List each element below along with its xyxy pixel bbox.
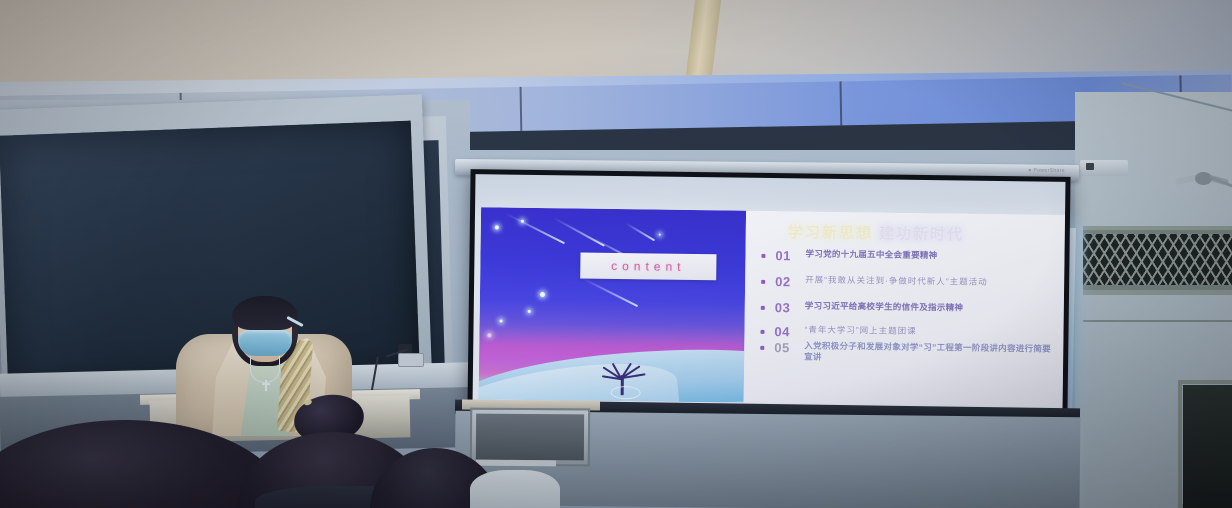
face-mask-icon (238, 330, 292, 356)
bullet-icon (761, 254, 765, 258)
bullet-icon (760, 346, 764, 350)
housing-brand-label: ● PowerShare (1028, 168, 1065, 174)
bullet-icon (760, 330, 764, 334)
wall-socket-plate (398, 353, 424, 367)
presentation-slide: 学习新思想 建功新时代 01 学习党的十九届五中全会重要精神 02 开展“我 (479, 207, 1065, 407)
projection-screen[interactable]: 学习新思想 建功新时代 01 学习党的十九届五中全会重要精神 02 开展“我 (467, 169, 1070, 417)
content-badge: content (580, 253, 716, 281)
student-shoulder-light (470, 470, 560, 508)
agenda-item: 03 学习习近平给高校学生的信件及指示精神 (759, 300, 1054, 319)
agenda-text: 学习党的十九届五中全会重要精神 (805, 248, 937, 261)
slide-title-part1: 学习新思想 (788, 224, 873, 242)
bullet-icon (761, 306, 765, 310)
slide-artwork-night-sky (479, 207, 746, 402)
wall-cabinet[interactable] (470, 408, 590, 467)
doorway (1183, 385, 1232, 508)
agenda-number: 04 (774, 324, 804, 339)
presenter-hair (232, 296, 298, 330)
agenda-number: 02 (775, 274, 805, 289)
necklace-chain (250, 356, 280, 383)
bare-tree-silhouette (595, 351, 652, 396)
agenda-text: 开展“我敢从关注到·争做时代新人”主题活动 (805, 274, 988, 288)
wall-fan-icon (1175, 168, 1232, 190)
classroom-photo: ● PowerShare (0, 0, 1232, 508)
agenda-text: “青年大学习”网上主题团课 (804, 324, 916, 337)
agenda-text: 学习习近平给高校学生的信件及指示精神 (805, 300, 964, 314)
slide-content-panel: 学习新思想 建功新时代 01 学习党的十九届五中全会重要精神 02 开展“我 (744, 211, 1065, 407)
agenda-item: 02 开展“我敢从关注到·争做时代新人”主题活动 (759, 274, 1054, 293)
bullet-icon (761, 280, 765, 284)
agenda-number: 01 (775, 248, 805, 263)
agenda-number: 05 (774, 340, 804, 355)
slide-title: 学习新思想 建功新时代 (788, 221, 1055, 245)
content-badge-label: content (611, 259, 686, 274)
agenda-item: 01 学习党的十九届五中全会重要精神 (759, 248, 1054, 267)
agenda-number: 03 (775, 300, 805, 315)
lattice-transom-grille (1083, 226, 1232, 295)
slide-title-part2: 建功新时代 (879, 225, 964, 243)
screen-surface: 学习新思想 建功新时代 01 学习党的十九届五中全会重要精神 02 开展“我 (473, 174, 1066, 412)
agenda-item: 05 入党积极分子和发展对象对学“习”工程第一阶段讲内容进行简要宣讲 (758, 340, 1053, 367)
slide-agenda-list: 01 学习党的十九届五中全会重要精神 02 开展“我敢从关注到·争做时代新人”主… (758, 248, 1054, 367)
wall-pier-line (1083, 320, 1232, 322)
cross-pendant-icon (262, 380, 270, 391)
projector-box (1080, 160, 1128, 176)
cabinet-lip (476, 460, 556, 467)
agenda-text: 入党积极分子和发展对象对学“习”工程第一阶段讲内容进行简要宣讲 (804, 340, 1053, 366)
